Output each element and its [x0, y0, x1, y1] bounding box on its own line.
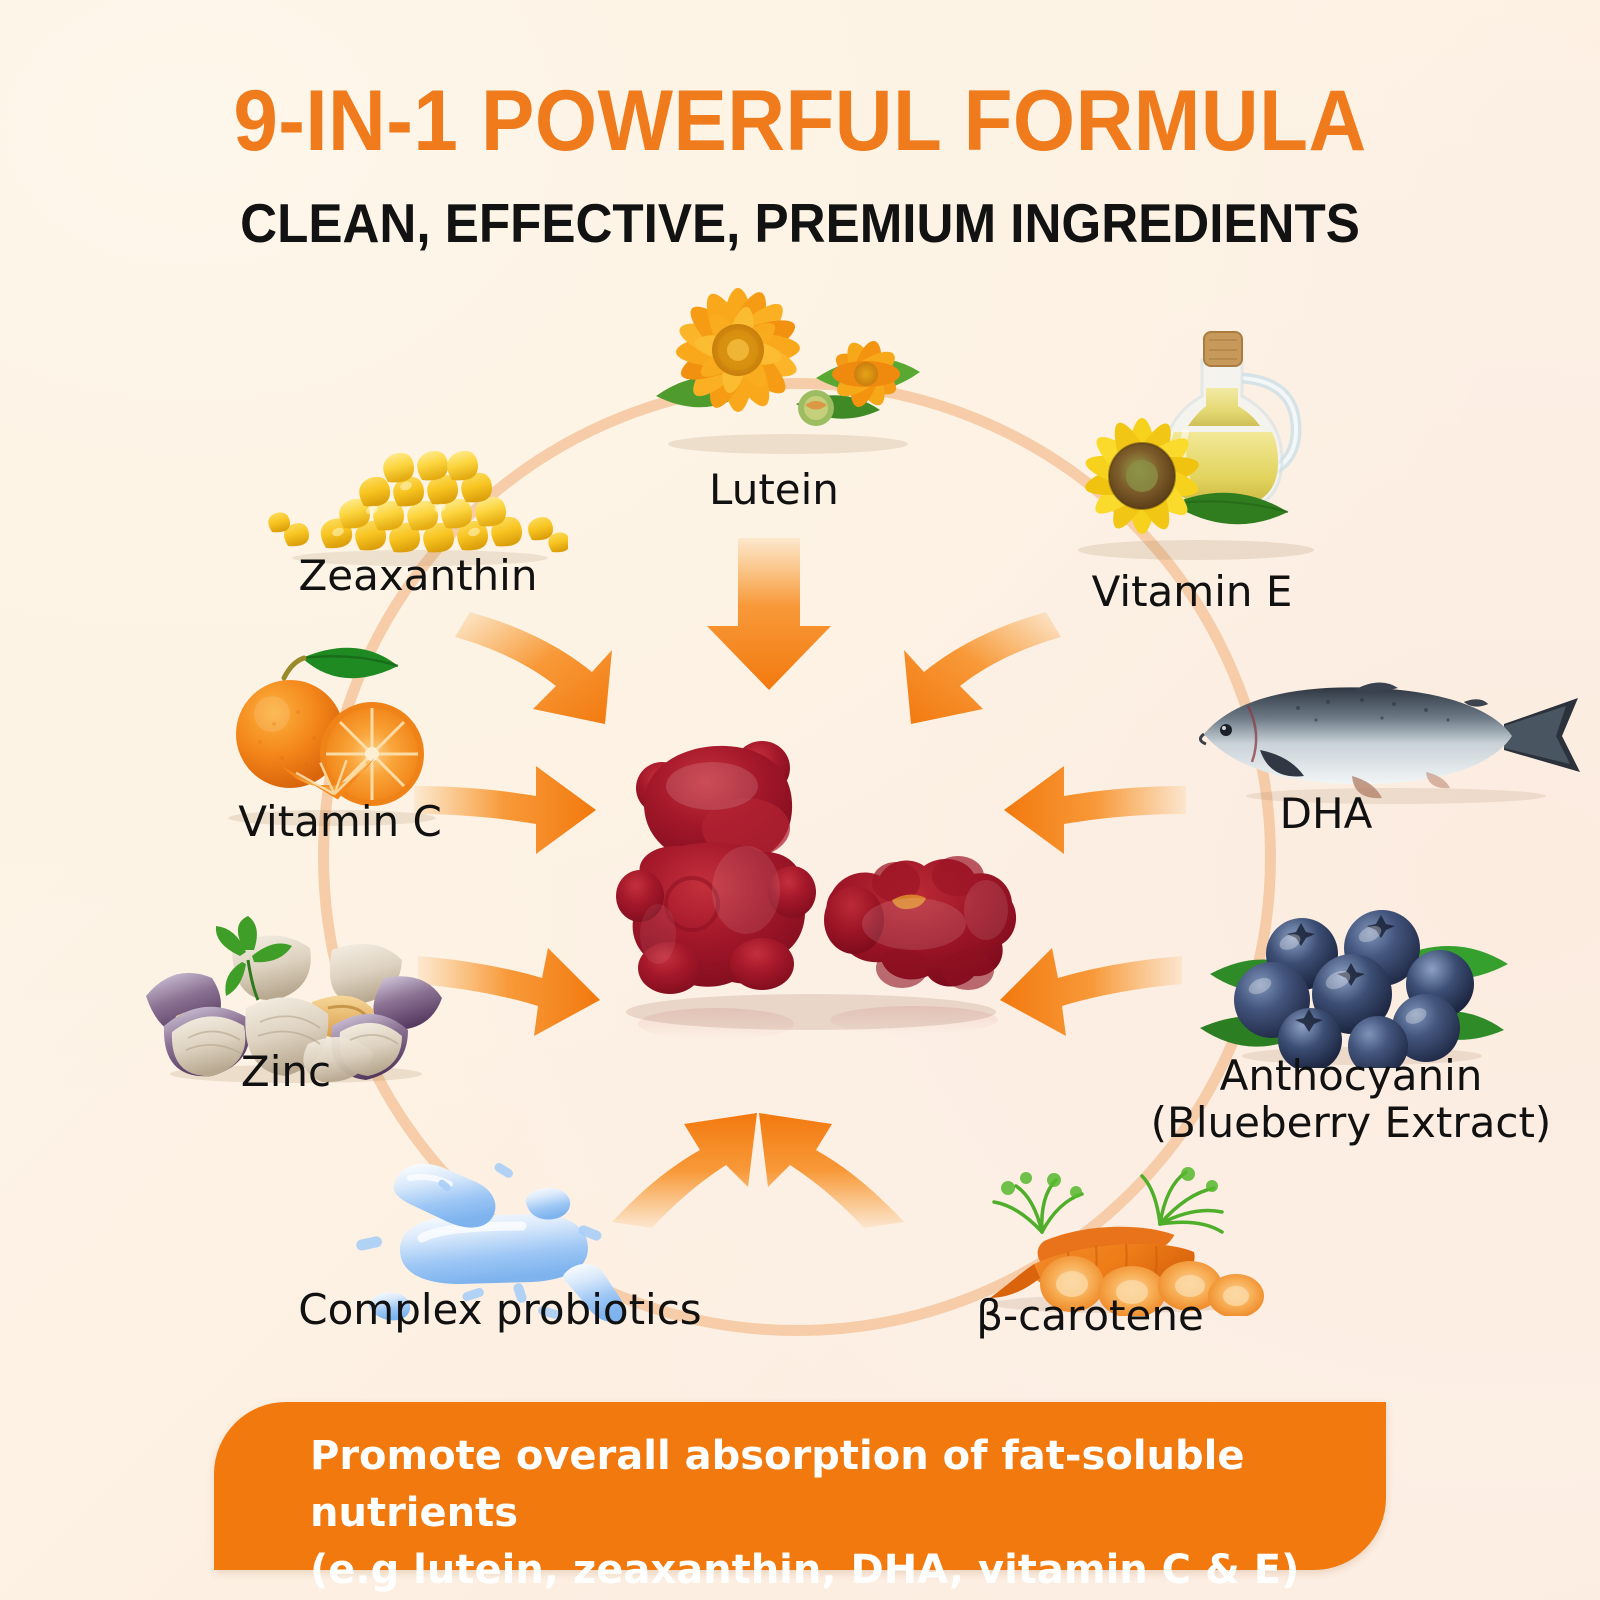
sunflower-oil-icon	[1046, 326, 1336, 566]
infographic-root: 9-IN-1 POWERFUL FORMULA CLEAN, EFFECTIVE…	[0, 0, 1600, 1600]
label-lutein: Lutein	[614, 466, 934, 513]
benefit-banner-text: Promote overall absorption of fat-solubl…	[310, 1428, 1330, 1598]
label-anthocyanin: Anthocyanin (Blueberry Extract)	[1126, 1052, 1576, 1146]
arrow-zeaxanthin	[455, 612, 612, 724]
arrow-beta-carotene	[759, 1113, 904, 1228]
label-beta-carotene: β-carotene	[890, 1292, 1290, 1339]
gummy-bear-upright	[616, 741, 816, 994]
arrow-lutein	[707, 538, 831, 690]
label-vitamin-e: Vitamin E	[1042, 568, 1342, 615]
label-zeaxanthin: Zeaxanthin	[218, 552, 618, 599]
gummy-bears	[596, 724, 1036, 1064]
label-vitamin-c: Vitamin C	[190, 798, 490, 845]
blueberries-icon	[1186, 888, 1526, 1068]
label-dha: DHA	[1196, 790, 1456, 837]
bacteria-rod-upper-left	[394, 1164, 496, 1228]
label-complex-probiotics: Complex probiotics	[290, 1286, 710, 1333]
corn-kernels-icon	[268, 436, 568, 566]
benefit-banner: Promote overall absorption of fat-solubl…	[214, 1402, 1386, 1570]
gummy-bear-lying	[824, 856, 1016, 990]
salmon-fish-icon	[1186, 668, 1586, 808]
label-zinc: Zinc	[126, 1048, 446, 1095]
bacteria-rod-large	[400, 1214, 588, 1284]
arrow-vitamin-e	[904, 612, 1061, 724]
marigold-flower-icon	[620, 278, 950, 458]
